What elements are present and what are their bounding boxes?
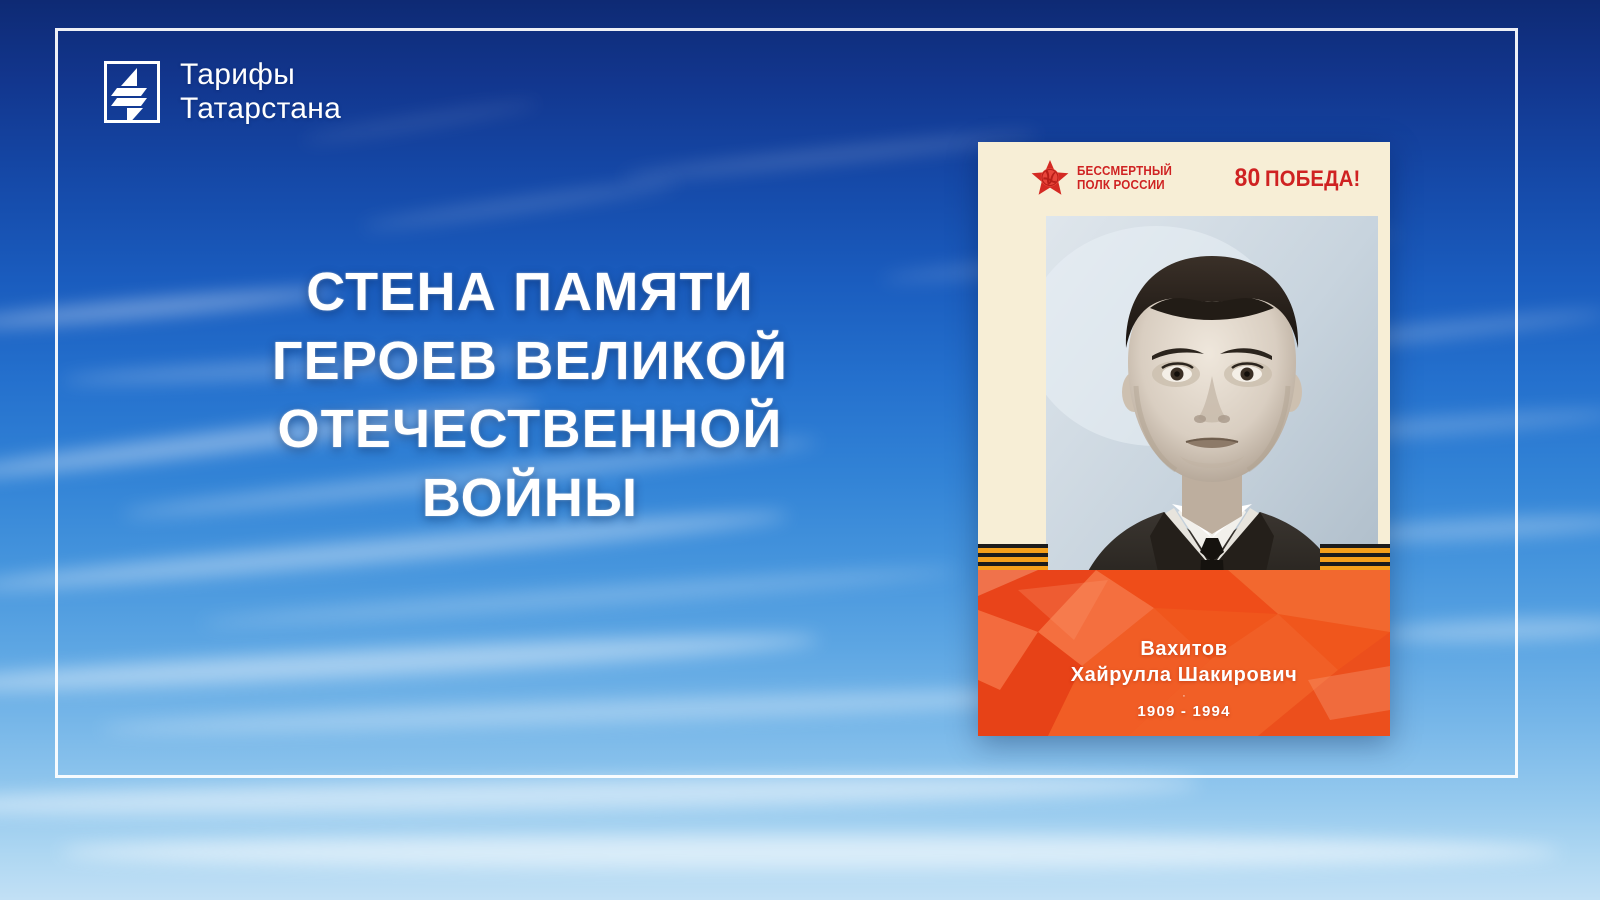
name-separator: · (978, 691, 1390, 701)
st-george-ribbon-right (1320, 544, 1390, 572)
person-given-name: Хайрулла Шакирович (978, 664, 1390, 687)
person-life-years: 1909 - 1994 (978, 703, 1390, 720)
memorial-card: БЕССМЕРТНЫЙ ПОЛК РОССИИ 80 ПОБЕДА! (978, 142, 1390, 736)
immortal-regiment-name: БЕССМЕРТНЫЙ ПОЛК РОССИИ (1077, 164, 1172, 192)
poster-canvas: Тарифы Татарстана СТЕНА ПАМЯТИ ГЕРОЕВ ВЕ… (0, 0, 1600, 900)
brand-name: Тарифы Татарстана (180, 58, 341, 125)
page-title: СТЕНА ПАМЯТИ ГЕРОЕВ ВЕЛИКОЙ ОТЕЧЕСТВЕННО… (160, 258, 900, 532)
immortal-regiment-logo: БЕССМЕРТНЫЙ ПОЛК РОССИИ (1030, 159, 1179, 197)
soviet-star-icon (1030, 159, 1070, 197)
card-header: БЕССМЕРТНЫЙ ПОЛК РОССИИ 80 ПОБЕДА! (978, 142, 1390, 214)
victory-word: ПОБЕДА! (1265, 166, 1360, 192)
brand-logo: Тарифы Татарстана (104, 58, 341, 125)
victory-number: 80 (1235, 164, 1261, 193)
card-name-panel: Вахитов Хайрулла Шакирович · 1909 - 1994 (978, 570, 1390, 736)
person-surname: Вахитов (978, 638, 1390, 661)
victory-badge: 80 ПОБЕДА! (1235, 164, 1361, 193)
lightning-bolt-icon (104, 61, 160, 123)
st-george-ribbon-left (978, 544, 1048, 572)
person-name-block: Вахитов Хайрулла Шакирович · 1909 - 1994 (978, 638, 1390, 720)
